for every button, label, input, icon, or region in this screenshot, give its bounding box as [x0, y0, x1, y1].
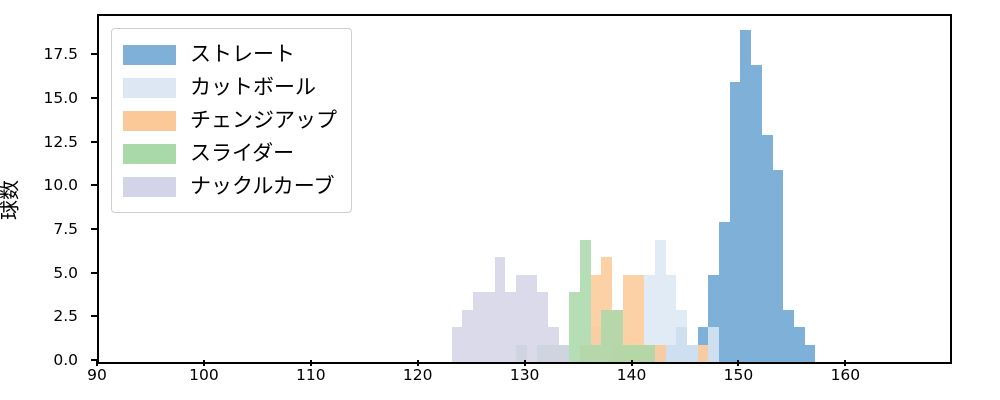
legend-color-swatch	[123, 45, 176, 65]
x-axis-tick-mark	[844, 360, 846, 366]
legend-item[interactable]: チェンジアップ	[123, 104, 337, 137]
x-axis-tick-label: 120	[403, 366, 433, 384]
x-axis-tick-mark	[310, 360, 312, 366]
x-axis-tick-mark	[417, 360, 419, 366]
legend-item[interactable]: カットボール	[123, 71, 337, 104]
x-axis-tick-label: 130	[510, 366, 540, 384]
x-axis-tick-mark	[737, 360, 739, 366]
x-axis-tick-label: 150	[724, 366, 754, 384]
x-axis-tick-label: 110	[296, 366, 326, 384]
legend-item-label: ストレート	[190, 44, 295, 65]
x-axis-tick-label: 90	[87, 366, 107, 384]
legend: ストレートカットボールチェンジアップスライダーナックルカーブ	[111, 28, 352, 213]
x-axis-tick-mark	[203, 360, 205, 366]
legend-color-swatch	[123, 111, 176, 131]
legend-item-label: スライダー	[190, 143, 294, 164]
x-axis-tick-label: 140	[617, 366, 647, 384]
legend-item[interactable]: ストレート	[123, 38, 337, 71]
legend-item[interactable]: スライダー	[123, 137, 337, 170]
pitch-speed-histogram-figure: 球数 0.02.55.07.510.012.515.017.5 90100110…	[0, 0, 1000, 400]
legend-color-swatch	[123, 177, 176, 197]
legend-item-label: チェンジアップ	[190, 110, 337, 131]
legend-color-swatch	[123, 144, 176, 164]
legend-item[interactable]: ナックルカーブ	[123, 170, 337, 203]
legend-item-label: ナックルカーブ	[190, 176, 334, 197]
x-axis-tick-label: 100	[189, 366, 219, 384]
x-axis-tick-mark	[524, 360, 526, 366]
x-axis-tick-mark	[96, 360, 98, 366]
x-axis-tick-mark	[631, 360, 633, 366]
x-axis-tick-label: 160	[831, 366, 861, 384]
legend-color-swatch	[123, 78, 176, 98]
legend-item-label: カットボール	[190, 77, 316, 98]
